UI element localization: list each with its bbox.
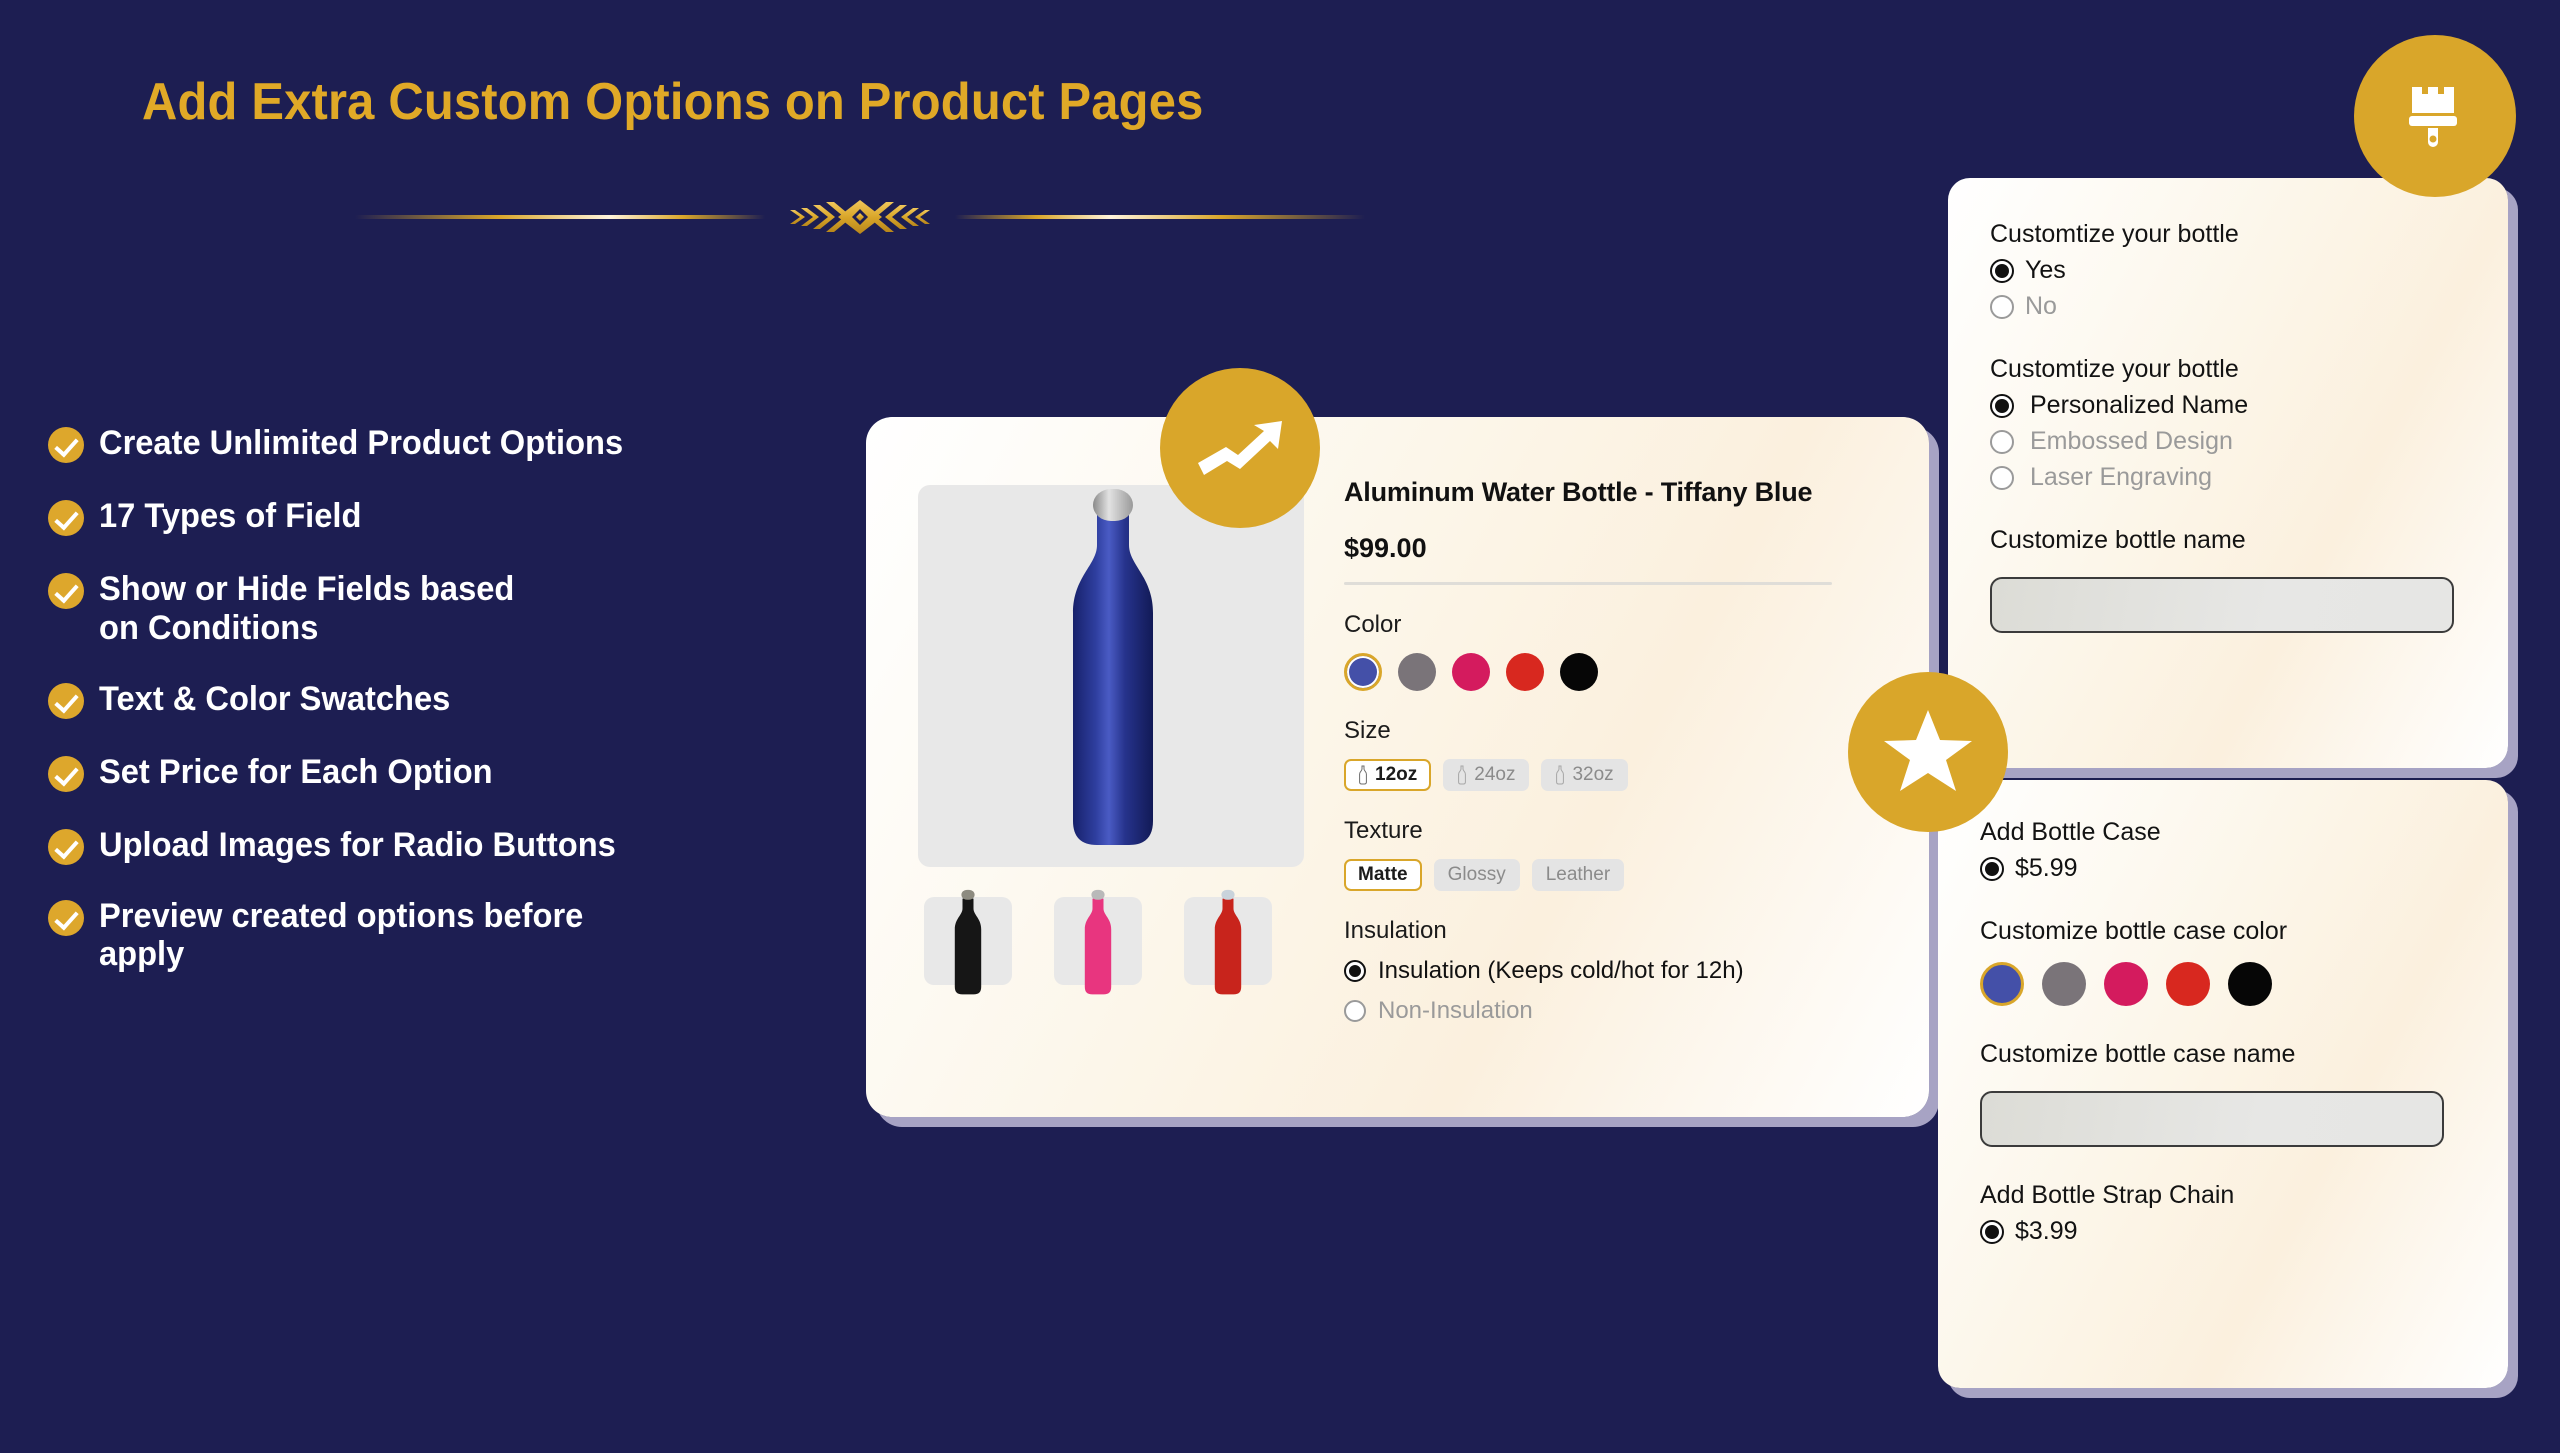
- custom-options-card-bottom: Add Bottle Case $5.99 Customize bottle c…: [1938, 780, 2508, 1388]
- radio-insulation-yes[interactable]: Insulation (Keeps cold/hot for 12h): [1344, 957, 1899, 985]
- list-item: Text & Color Swatches: [48, 680, 868, 719]
- feature-label: 17 Types of Field: [99, 497, 361, 536]
- swatch-red[interactable]: [1506, 653, 1544, 691]
- case-swatch-pink[interactable]: [2104, 962, 2148, 1006]
- texture-chip-leather[interactable]: Leather: [1532, 859, 1624, 891]
- case-swatch-black[interactable]: [2228, 962, 2272, 1006]
- bottle-name-input[interactable]: [1990, 577, 2454, 633]
- list-item: Upload Images for Radio Buttons: [48, 826, 868, 865]
- radio-icon: [1980, 1220, 2004, 1244]
- radio-customize-no[interactable]: No: [1990, 292, 2472, 321]
- check-icon: [48, 756, 84, 792]
- thumbnail-strip[interactable]: [924, 897, 1272, 985]
- group-label-add-bottle-case: Add Bottle Case: [1980, 818, 2472, 847]
- radio-icon: [1990, 259, 2014, 283]
- radio-customize-yes[interactable]: Yes: [1990, 256, 2472, 285]
- product-price: $99.00: [1344, 533, 1899, 564]
- case-swatch-gray[interactable]: [2042, 962, 2086, 1006]
- product-main-image[interactable]: [918, 485, 1304, 867]
- radio-label: Laser Engraving: [2030, 463, 2212, 492]
- radio-laser-engraving[interactable]: Laser Engraving: [1990, 463, 2472, 492]
- swatch-gray[interactable]: [1398, 653, 1436, 691]
- field-label-case-name: Customize bottle case name: [1980, 1040, 2472, 1069]
- star-badge: [1848, 672, 2008, 832]
- radio-label: $5.99: [2015, 854, 2078, 883]
- size-chip-12oz[interactable]: 12oz: [1344, 759, 1431, 791]
- bottle-icon: [1358, 765, 1368, 785]
- radio-label: Personalized Name: [2030, 391, 2248, 420]
- size-chip-label: 32oz: [1572, 764, 1613, 786]
- thumbnail-pink[interactable]: [1054, 897, 1142, 985]
- swatch-blue[interactable]: [1344, 653, 1382, 691]
- size-chip-label: 12oz: [1375, 764, 1417, 786]
- check-icon: [48, 427, 84, 463]
- radio-icon: [1980, 857, 2004, 881]
- radio-label: Yes: [2025, 256, 2066, 285]
- radio-icon: [1990, 394, 2014, 418]
- feature-label: Upload Images for Radio Buttons: [99, 826, 616, 865]
- check-icon: [48, 683, 84, 719]
- option-label-insulation: Insulation: [1344, 917, 1899, 945]
- feature-label: Text & Color Swatches: [99, 680, 450, 719]
- radio-personalized-name[interactable]: Personalized Name: [1990, 391, 2472, 420]
- radio-bottle-case-price[interactable]: $5.99: [1980, 854, 2472, 883]
- product-preview-card: Aluminum Water Bottle - Tiffany Blue $99…: [866, 417, 1929, 1117]
- check-icon: [48, 829, 84, 865]
- paint-brush-icon: [2404, 81, 2466, 151]
- group-label-customize-bottle: Customtize your bottle: [1990, 220, 2472, 249]
- swatch-black[interactable]: [1560, 653, 1598, 691]
- check-icon: [48, 900, 84, 936]
- group-label-customize-style: Customtize your bottle: [1990, 355, 2472, 384]
- bottle-icon: [1457, 765, 1467, 785]
- group-label-case-color: Customize bottle case color: [1980, 917, 2472, 946]
- radio-icon: [1344, 1000, 1366, 1022]
- ornamental-divider-icon: [355, 196, 1365, 238]
- bottle-icon: [1555, 765, 1565, 785]
- size-chip-24oz[interactable]: 24oz: [1443, 759, 1529, 791]
- option-label-color: Color: [1344, 611, 1899, 639]
- radio-icon: [1344, 960, 1366, 982]
- radio-label: Insulation (Keeps cold/hot for 12h): [1378, 957, 1744, 985]
- custom-options-card-top: Customtize your bottle Yes No Customtize…: [1948, 178, 2508, 768]
- group-label-strap-chain: Add Bottle Strap Chain: [1980, 1181, 2472, 1210]
- list-item: Set Price for Each Option: [48, 753, 868, 792]
- check-icon: [48, 573, 84, 609]
- check-icon: [48, 500, 84, 536]
- divider: [1344, 582, 1832, 585]
- texture-chip-glossy[interactable]: Glossy: [1434, 859, 1520, 891]
- thumbnail-black[interactable]: [924, 897, 1012, 985]
- radio-strap-chain-price[interactable]: $3.99: [1980, 1217, 2472, 1246]
- product-info: Aluminum Water Bottle - Tiffany Blue $99…: [1344, 477, 1899, 1025]
- radio-label: Non-Insulation: [1378, 997, 1533, 1025]
- radio-icon: [1990, 466, 2014, 490]
- size-chip-label: 24oz: [1474, 764, 1515, 786]
- radio-label: Embossed Design: [2030, 427, 2233, 456]
- radio-insulation-no[interactable]: Non-Insulation: [1344, 997, 1899, 1025]
- case-swatch-red[interactable]: [2166, 962, 2210, 1006]
- radio-embossed-design[interactable]: Embossed Design: [1990, 427, 2472, 456]
- radio-label: No: [2025, 292, 2057, 321]
- color-swatch-group[interactable]: [1344, 653, 1899, 691]
- swatch-pink[interactable]: [1452, 653, 1490, 691]
- texture-chip-group[interactable]: Matte Glossy Leather: [1344, 859, 1899, 891]
- thumbnail-red[interactable]: [1184, 897, 1272, 985]
- radio-icon: [1990, 295, 2014, 319]
- option-label-size: Size: [1344, 717, 1899, 745]
- list-item: Show or Hide Fields based on Conditions: [48, 570, 868, 648]
- product-title: Aluminum Water Bottle - Tiffany Blue: [1344, 477, 1899, 508]
- feature-label: Preview created options before apply: [99, 897, 583, 975]
- feature-label: Create Unlimited Product Options: [99, 424, 623, 463]
- feature-label: Set Price for Each Option: [99, 753, 493, 792]
- case-swatch-blue[interactable]: [1980, 962, 2024, 1006]
- case-color-swatch-group[interactable]: [1980, 962, 2472, 1006]
- list-item: Create Unlimited Product Options: [48, 424, 868, 463]
- trending-up-badge: [1160, 368, 1320, 528]
- trending-up-icon: [1194, 417, 1286, 479]
- star-icon: [1882, 708, 1974, 796]
- size-chip-group[interactable]: 12oz 24oz 32oz: [1344, 759, 1899, 791]
- field-label-bottle-name: Customize bottle name: [1990, 526, 2472, 555]
- texture-chip-matte[interactable]: Matte: [1344, 859, 1422, 891]
- option-label-texture: Texture: [1344, 817, 1899, 845]
- list-item: 17 Types of Field: [48, 497, 868, 536]
- page-title: Add Extra Custom Options on Product Page…: [142, 72, 1203, 132]
- size-chip-32oz[interactable]: 32oz: [1541, 759, 1627, 791]
- radio-icon: [1990, 430, 2014, 454]
- bottle-case-name-input[interactable]: [1980, 1091, 2444, 1147]
- feature-list: Create Unlimited Product Options 17 Type…: [48, 424, 868, 1008]
- list-item: Preview created options before apply: [48, 897, 868, 975]
- paint-brush-badge: [2354, 35, 2516, 197]
- feature-label: Show or Hide Fields based on Conditions: [99, 570, 514, 648]
- radio-label: $3.99: [2015, 1217, 2078, 1246]
